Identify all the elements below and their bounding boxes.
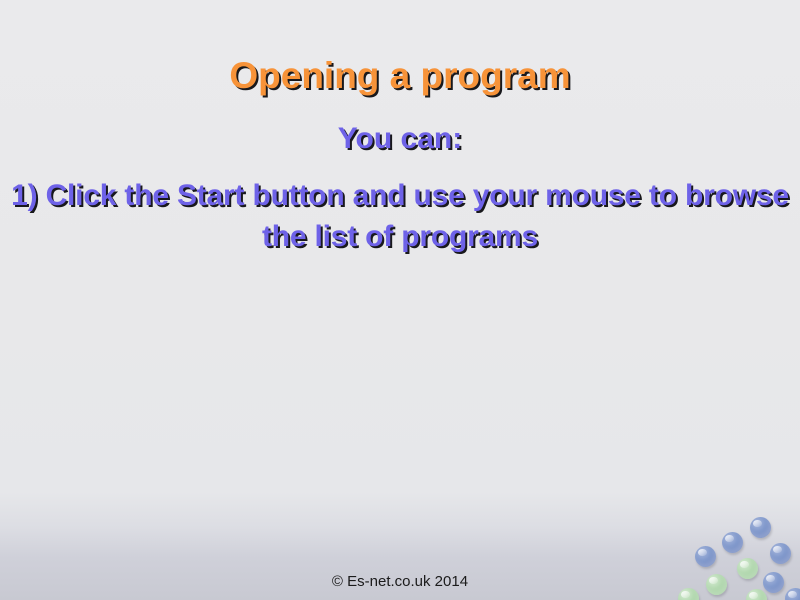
sphere-blue-icon [722, 532, 743, 553]
presentation-slide: Opening a program You can: 1) Click the … [0, 0, 800, 600]
slide-subtitle: You can: [0, 118, 800, 159]
copyright-footer: © Es-net.co.uk 2014 [0, 573, 800, 590]
bullet-item-1: 1) Click the Start button and use your m… [0, 175, 800, 257]
sphere-green-icon [746, 589, 767, 600]
sphere-blue-icon [695, 546, 716, 567]
sphere-blue-icon [770, 543, 791, 564]
sphere-blue-icon [750, 517, 771, 538]
slide-body: You can: 1) Click the Start button and u… [0, 118, 800, 257]
page-title: Opening a program [0, 55, 800, 97]
